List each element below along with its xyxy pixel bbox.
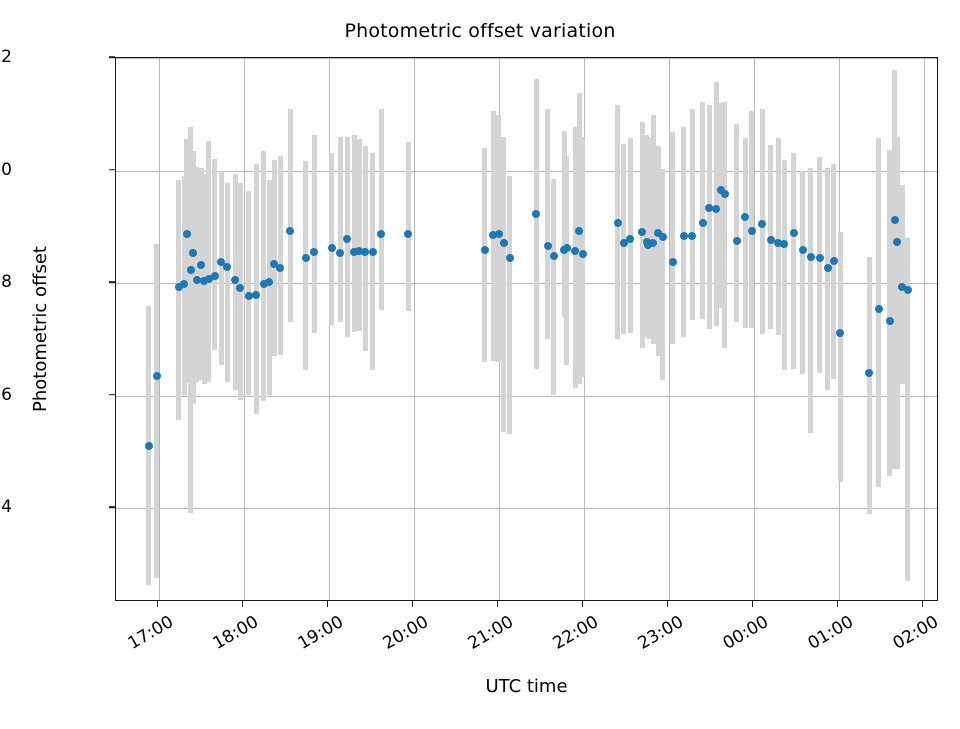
data-point xyxy=(659,233,667,241)
errorbar xyxy=(303,161,308,370)
x-tick-mark xyxy=(412,601,414,607)
y-tick-label-9.8: 9.8 xyxy=(0,272,12,292)
data-point xyxy=(265,278,273,286)
data-point xyxy=(544,242,552,250)
data-point xyxy=(404,230,412,238)
data-point xyxy=(836,329,844,337)
errorbar xyxy=(707,105,712,330)
y-tick-mark xyxy=(109,506,115,508)
data-point xyxy=(614,219,622,227)
errorbar xyxy=(749,111,754,328)
data-point xyxy=(790,229,798,237)
x-tick-mark xyxy=(497,601,499,607)
gridline-x-2000 xyxy=(414,58,415,600)
data-point xyxy=(865,369,873,377)
data-point xyxy=(343,235,351,243)
errorbar xyxy=(406,142,411,311)
data-point xyxy=(183,230,191,238)
errorbar xyxy=(154,244,159,578)
x-axis-label: UTC time xyxy=(115,676,938,697)
errorbar xyxy=(338,137,343,322)
gridline-x-1800 xyxy=(244,58,245,600)
errorbar xyxy=(838,232,843,482)
errorbar xyxy=(722,102,727,348)
data-point xyxy=(211,272,219,280)
data-point xyxy=(579,250,587,258)
data-point xyxy=(252,291,260,299)
data-point xyxy=(506,254,514,262)
y-tick-mark xyxy=(109,394,115,396)
errorbar xyxy=(379,109,384,310)
gridline-x-1900 xyxy=(329,58,330,600)
gridline-y-10.2 xyxy=(116,58,937,59)
data-point xyxy=(481,246,489,254)
gridline-x-0200 xyxy=(924,58,925,600)
errorbar xyxy=(690,109,695,319)
errorbar xyxy=(482,148,487,362)
y-tick-mark xyxy=(109,56,115,58)
data-point xyxy=(377,230,385,238)
errorbar xyxy=(329,153,334,325)
data-point xyxy=(532,210,540,218)
data-point xyxy=(875,305,883,313)
y-axis-label: Photometric offset xyxy=(30,246,51,412)
errorbar xyxy=(225,183,230,382)
errorbar xyxy=(808,168,813,434)
data-point xyxy=(669,258,677,266)
data-point xyxy=(223,263,231,271)
data-point xyxy=(807,253,815,261)
data-point xyxy=(904,286,912,294)
errorbar xyxy=(782,160,787,370)
data-point xyxy=(886,317,894,325)
x-tick-mark xyxy=(582,601,584,607)
data-point xyxy=(712,205,720,213)
errorbar xyxy=(831,164,836,379)
errorbar xyxy=(743,138,748,328)
errorbar xyxy=(867,257,872,514)
data-point xyxy=(688,232,696,240)
errorbar xyxy=(212,159,217,350)
errorbar xyxy=(700,102,705,318)
errorbar xyxy=(254,164,259,414)
data-point xyxy=(187,266,195,274)
errorbar xyxy=(370,153,375,371)
y-tick-label-10.2: 10.2 xyxy=(0,47,12,67)
errorbar xyxy=(272,160,277,356)
data-point xyxy=(336,249,344,257)
photometric-offset-figure: Photometric offset variation Photometric… xyxy=(0,0,960,720)
errorbar xyxy=(278,156,283,354)
data-point xyxy=(500,239,508,247)
chart-title: Photometric offset variation xyxy=(0,20,960,42)
data-point xyxy=(816,254,824,262)
x-tick-mark xyxy=(752,601,754,607)
data-point xyxy=(563,244,571,252)
x-tick-mark xyxy=(242,601,244,607)
errorbar xyxy=(817,157,822,373)
x-tick-mark xyxy=(667,601,669,607)
data-point xyxy=(830,257,838,265)
x-tick-mark xyxy=(922,601,924,607)
data-point xyxy=(758,220,766,228)
errorbar xyxy=(791,153,796,369)
x-tick-mark xyxy=(837,601,839,607)
data-point xyxy=(733,237,741,245)
errorbar xyxy=(534,79,539,368)
data-point xyxy=(626,235,634,243)
data-point xyxy=(495,230,503,238)
data-point xyxy=(145,442,153,450)
data-point xyxy=(361,248,369,256)
errorbar xyxy=(776,138,781,335)
gridline-y-10.0 xyxy=(116,171,937,172)
errorbar xyxy=(206,141,211,382)
data-point xyxy=(799,246,807,254)
y-tick-mark xyxy=(109,281,115,283)
data-point xyxy=(680,232,688,240)
data-point xyxy=(550,252,558,260)
errorbar xyxy=(660,169,665,379)
errorbar xyxy=(825,168,830,390)
data-point xyxy=(741,213,749,221)
gridline-y-9.4 xyxy=(116,508,937,509)
y-tick-label-10.0: 10.0 xyxy=(0,160,12,180)
errorbar xyxy=(501,137,506,432)
errorbar xyxy=(800,171,805,375)
data-point xyxy=(286,227,294,235)
data-point xyxy=(276,264,284,272)
x-tick-mark xyxy=(327,601,329,607)
y-tick-mark xyxy=(109,169,115,171)
data-point xyxy=(699,219,707,227)
errorbar xyxy=(545,109,550,339)
plot-area xyxy=(115,57,938,601)
errorbar xyxy=(670,132,675,344)
errorbar xyxy=(551,179,556,395)
data-point xyxy=(721,190,729,198)
data-point xyxy=(891,216,899,224)
errorbar xyxy=(357,139,362,331)
data-point xyxy=(780,240,788,248)
x-tick-mark xyxy=(157,601,159,607)
data-point xyxy=(231,276,239,284)
errorbar xyxy=(312,135,317,334)
errorbar xyxy=(564,156,569,364)
data-point xyxy=(328,244,336,252)
data-point xyxy=(649,239,657,247)
data-point xyxy=(302,254,310,262)
data-point xyxy=(748,227,756,235)
data-point xyxy=(310,248,318,256)
errorbar xyxy=(507,176,512,434)
data-point xyxy=(369,248,377,256)
y-tick-label-9.4: 9.4 xyxy=(0,497,12,517)
y-tick-label-9.6: 9.6 xyxy=(0,385,12,405)
errorbar xyxy=(734,124,739,322)
errorbar xyxy=(288,109,293,322)
